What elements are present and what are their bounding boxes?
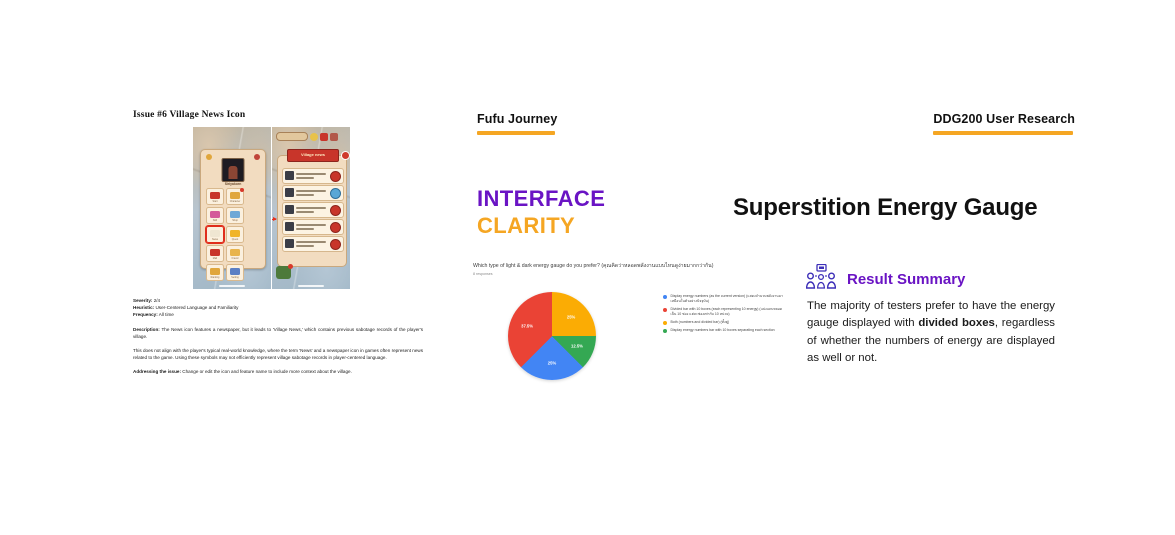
pie-chart: Display energy numbers (as the current v…	[473, 290, 783, 385]
trophy-icon	[210, 268, 220, 275]
legend-label: Both (numbers and divided bar) (ทั้งคู่)	[671, 320, 730, 325]
news-list-item[interactable]	[282, 185, 344, 201]
legend-color-swatch	[663, 295, 667, 299]
news-action-button[interactable]	[330, 205, 341, 216]
header-underline	[477, 131, 555, 135]
legend-color-swatch	[663, 321, 667, 325]
severity-row: Severity: 2/4	[133, 298, 423, 305]
news-list-item[interactable]	[282, 236, 344, 252]
legend-label: Divided bar with 10 boxes (each represen…	[671, 307, 784, 317]
news-thumb	[285, 171, 294, 180]
result-summary-text: The majority of testers prefer to have t…	[807, 298, 1055, 367]
news-action-button[interactable]	[330, 239, 341, 250]
news-text-line	[296, 211, 314, 213]
pie-slice-label: 37.5%	[521, 323, 533, 328]
pie-slice-label: 12.5%	[571, 344, 583, 349]
star-icon	[310, 133, 318, 141]
skill-icon	[210, 211, 220, 218]
issue-body: This does not align with the player's ty…	[133, 347, 423, 361]
header-right: DDG200 User Research	[933, 112, 1075, 135]
menu-tile-grid: Start Character Skill Shop News Quest Ma…	[206, 188, 260, 281]
heading-line-1: INTERFACE	[477, 186, 605, 213]
pie-slice-label: 25%	[548, 361, 556, 366]
avatar	[222, 158, 245, 182]
menu-tile-setting: Setting	[226, 264, 244, 281]
news-text-line	[296, 173, 326, 175]
issue-metadata: Severity: 2/4 Heuristic: User-Centered L…	[133, 298, 423, 319]
home-indicator	[298, 285, 324, 287]
close-icon[interactable]	[341, 151, 350, 160]
pie-chart-graphic	[508, 292, 596, 380]
news-thumb	[285, 205, 294, 214]
menu-tile-ranking: Ranking	[206, 264, 224, 281]
menu-tile-skill: Skill	[206, 207, 224, 224]
book-icon	[210, 192, 220, 199]
summary-text-bold: divided boxes	[918, 317, 995, 329]
menu-tile-news[interactable]: News	[206, 226, 224, 243]
news-list-item[interactable]	[282, 168, 344, 184]
menu-tile-quest: Quest	[226, 226, 244, 243]
news-text-line	[296, 177, 314, 179]
news-text-line	[296, 241, 326, 243]
result-summary-title: Result Summary	[847, 271, 965, 288]
notification-badge	[240, 188, 244, 192]
project-title: Fufu Journey	[477, 112, 557, 126]
news-action-button[interactable]	[330, 222, 341, 233]
result-summary-header: Result Summary	[806, 264, 965, 295]
issue-report-column: Issue #6 Village News Icon Siriyakorn St…	[133, 110, 423, 375]
home-indicator	[219, 285, 245, 287]
news-text-line	[296, 228, 314, 230]
news-text-line	[296, 190, 326, 192]
legend-color-swatch	[663, 329, 667, 333]
legend-label: Display energy numbers bar with 10 boxes…	[671, 328, 775, 333]
village-icon[interactable]	[276, 266, 291, 279]
header-left: Fufu Journey	[477, 112, 557, 135]
annotation-arrow	[272, 219, 276, 220]
game-screenshot-menu: Siriyakorn Start Character Skill Shop Ne…	[193, 127, 271, 289]
gem-icon-right	[254, 154, 260, 160]
survey-question: Which type of light & dark energy gauge …	[473, 262, 783, 270]
game-screenshots: Siriyakorn Start Character Skill Shop Ne…	[193, 127, 351, 289]
header-underline	[933, 131, 1073, 135]
player-name: Siriyakorn	[201, 182, 265, 186]
issue-addressing: Addressing the issue: Change or edit the…	[133, 368, 423, 375]
shop-icon	[230, 211, 240, 218]
news-thumb	[285, 239, 294, 248]
menu-tile-mail: Mail	[206, 245, 224, 262]
legend-color-swatch	[663, 308, 667, 312]
issue-title: Issue #6 Village News Icon	[133, 110, 423, 120]
issue-description: Description: The News icon features a ne…	[133, 326, 423, 340]
heading-line-2: CLARITY	[477, 213, 605, 240]
character-icon	[230, 192, 240, 199]
inventory-icon	[330, 133, 338, 141]
quest-icon	[230, 230, 240, 237]
page-title: Superstition Energy Gauge	[733, 194, 1063, 222]
village-news-panel: Village news	[277, 155, 347, 267]
survey-response-count: 8 responses	[473, 272, 783, 276]
friend-icon	[230, 249, 240, 256]
news-list-item[interactable]	[282, 202, 344, 218]
pie-slice-label: 25%	[567, 314, 575, 319]
news-text-line	[296, 245, 314, 247]
mail-icon	[210, 249, 220, 256]
legend-item: Both (numbers and divided bar) (ทั้งคู่)	[663, 320, 783, 325]
news-thumb	[285, 222, 294, 231]
news-list-item[interactable]	[282, 219, 344, 235]
legend-label: Display energy numbers (as the current v…	[671, 294, 784, 304]
newspaper-icon	[210, 230, 220, 237]
course-title: DDG200 User Research	[933, 112, 1075, 126]
legend-item: Display energy numbers (as the current v…	[663, 294, 783, 304]
game-screenshot-village-news: Village news	[272, 127, 350, 289]
gem-icon-left	[206, 154, 212, 160]
heuristic-row: Heuristic: User-Centered Language and Fa…	[133, 305, 423, 312]
legend-item: Display energy numbers bar with 10 boxes…	[663, 328, 783, 333]
section-heading-interface-clarity: INTERFACE CLARITY	[477, 186, 605, 240]
village-news-ribbon: Village news	[287, 149, 339, 162]
news-search-button[interactable]	[330, 188, 341, 199]
news-text-line	[296, 224, 326, 226]
survey-block: Which type of light & dark energy gauge …	[473, 262, 783, 276]
news-text-line	[296, 207, 326, 209]
pie-chart-legend: Display energy numbers (as the current v…	[663, 294, 783, 337]
news-text-line	[296, 194, 314, 196]
news-thumb	[285, 188, 294, 197]
menu-tile-friend: Friend	[226, 245, 244, 262]
menu-tile-character: Character	[226, 188, 244, 205]
resource-bar	[276, 132, 308, 141]
menu-tile-shop: Shop	[226, 207, 244, 224]
news-action-button[interactable]	[330, 171, 341, 182]
frequency-row: Frequency: All time	[133, 312, 423, 319]
hud-topbar	[276, 131, 346, 142]
gear-icon	[230, 268, 240, 275]
user-research-icon	[806, 264, 836, 295]
chest-icon	[320, 133, 328, 141]
player-menu-panel: Siriyakorn Start Character Skill Shop Ne…	[200, 149, 266, 269]
legend-item: Divided bar with 10 boxes (each represen…	[663, 307, 783, 317]
menu-tile-start: Start	[206, 188, 224, 205]
